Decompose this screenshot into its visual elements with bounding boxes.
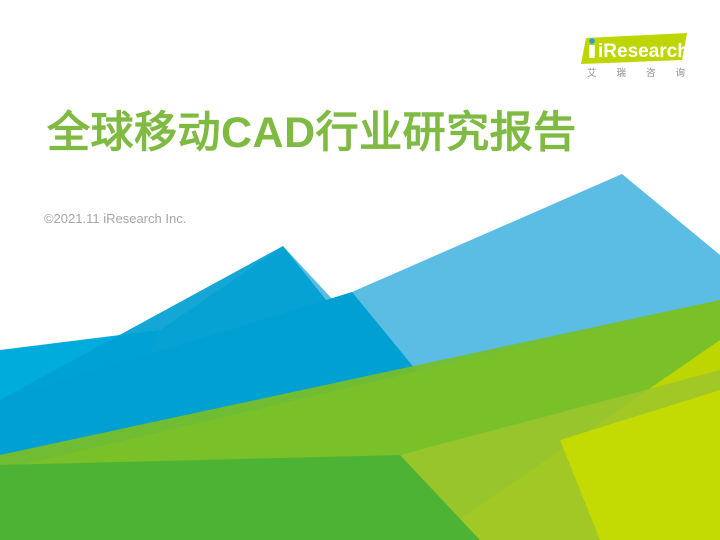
iresearch-wordmark-icon: iResearch xyxy=(581,33,687,65)
presentation-cover-slide: iResearch 艾 瑞 咨 询 全球移动CAD行业研究报告 ©2021.11… xyxy=(0,0,720,540)
logo-wordmark-text: iResearch xyxy=(598,41,687,62)
page-title: 全球移动CAD行业研究报告 xyxy=(47,106,577,160)
iresearch-logo: iResearch 艾 瑞 咨 询 xyxy=(581,33,687,83)
logo-chinese-char-2: 瑞 xyxy=(616,68,626,80)
logo-chinese-char-4: 询 xyxy=(675,68,685,80)
leaf-green-body-shape xyxy=(0,455,480,540)
logo-chinese-char-1: 艾 xyxy=(587,68,597,80)
logo-chinese-subtitle: 艾 瑞 咨 询 xyxy=(587,68,685,80)
copyright-notice: ©2021.11 iResearch Inc. xyxy=(44,210,186,228)
logo-chinese-char-3: 咨 xyxy=(646,68,656,80)
